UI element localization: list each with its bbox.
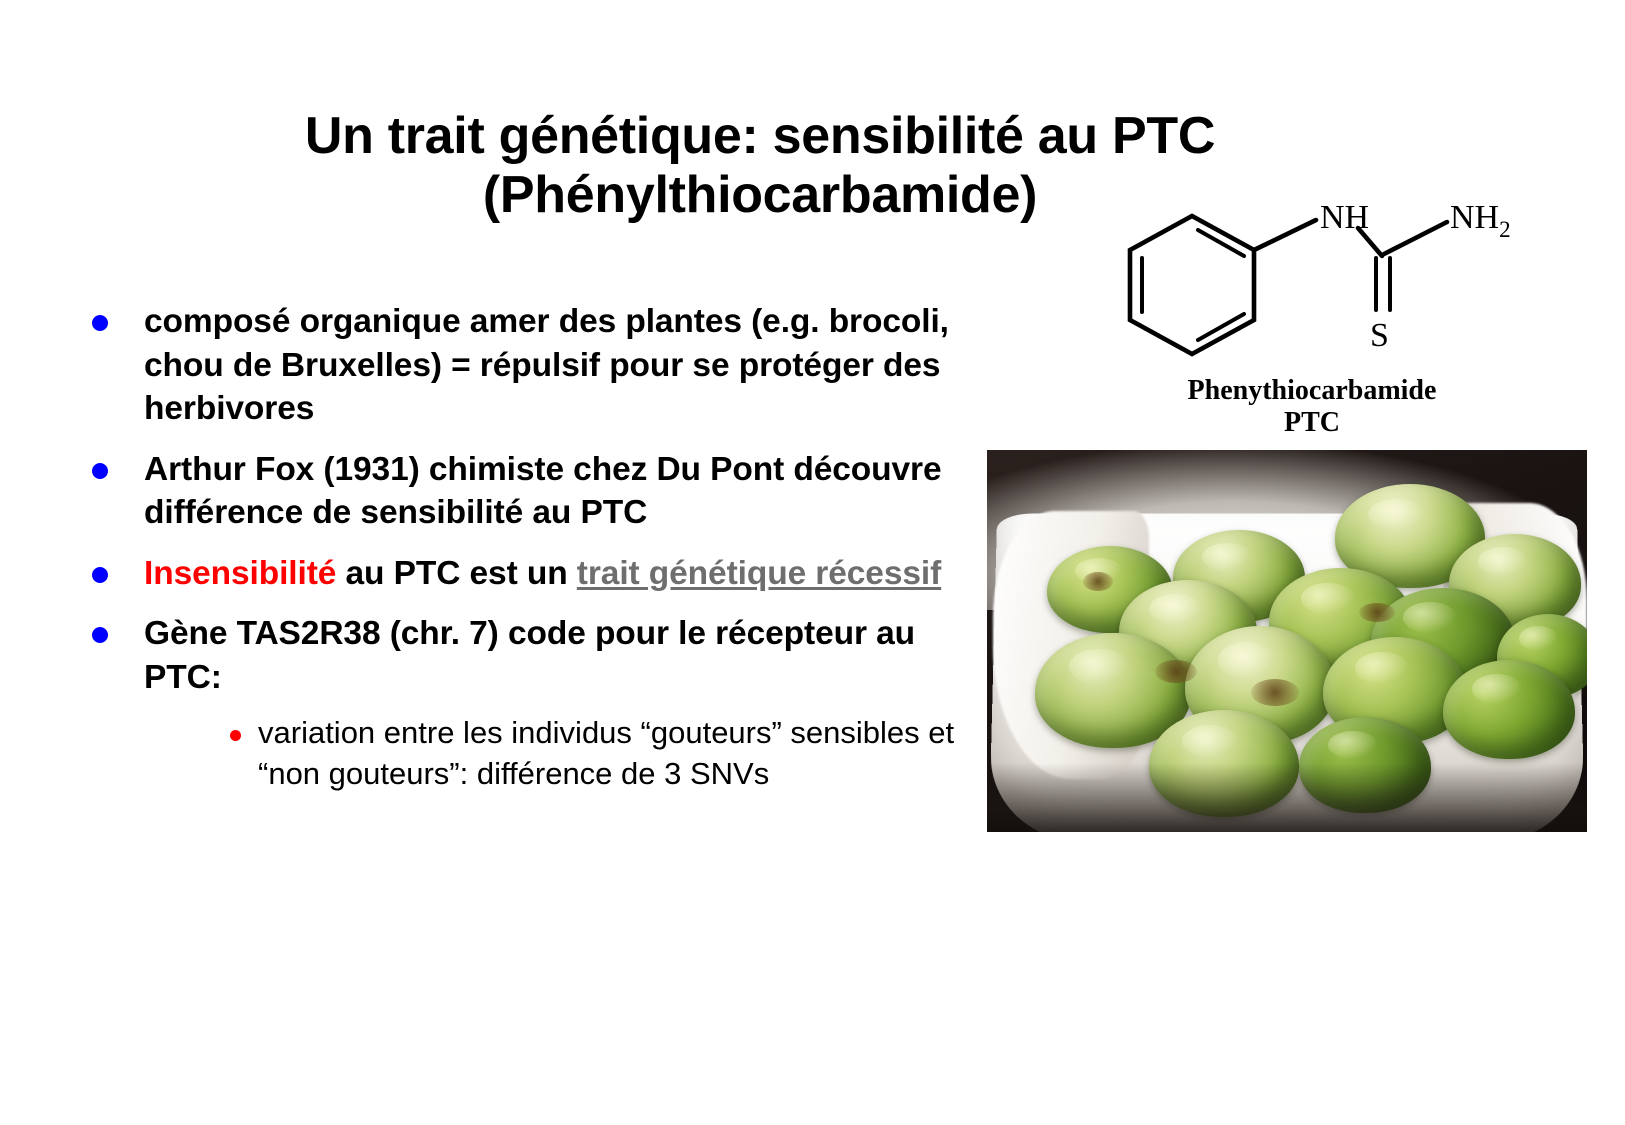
sub-bullet-text: variation entre les individus “gouteurs”… [258, 713, 972, 795]
sub-bullet-list: variation entre les individus “gouteurs”… [144, 713, 972, 795]
bullet-segment: Gène TAS2R38 (chr. 7) code pour le récep… [144, 615, 915, 696]
bullet-dot-icon [92, 627, 108, 643]
sprout [1443, 660, 1575, 759]
list-item: Arthur Fox (1931) chimiste chez Du Pont … [72, 448, 972, 535]
bullet-list: composé organique amer des plantes (e.g.… [72, 300, 972, 795]
char-spot [1155, 660, 1197, 683]
label-nh2: NH2 [1450, 199, 1511, 242]
caption-line-2: PTC [1062, 407, 1562, 439]
bullet-dot-icon [92, 463, 108, 479]
brussels-sprouts-photo [987, 450, 1587, 832]
label-nh: NH [1320, 199, 1369, 236]
sub-bullet-dot-icon [230, 730, 241, 741]
page-title-line-1: Un trait génétique: sensibilité au PTC [180, 107, 1340, 166]
char-spot [1359, 603, 1395, 622]
photo-foreground-shadow [987, 763, 1587, 832]
caption-line-1: Phenythiocarbamide [1062, 375, 1562, 407]
bullet-text: Arthur Fox (1931) chimiste chez Du Pont … [144, 448, 972, 535]
sub-list-item: variation entre les individus “gouteurs”… [206, 713, 972, 795]
char-spot [1251, 679, 1299, 706]
list-item: composé organique amer des plantes (e.g.… [72, 300, 972, 431]
bullet-text: Insensibilité au PTC est un trait généti… [144, 552, 972, 596]
bullet-segment: composé organique amer des plantes (e.g.… [144, 303, 949, 427]
ptc-molecule-icon: NH NH2 S [1062, 188, 1562, 373]
label-s: S [1370, 317, 1389, 354]
underlined-term-trait-genetique-recessif: trait génétique récessif [577, 555, 941, 592]
chemical-structure-caption: Phenythiocarbamide PTC [1062, 375, 1562, 440]
bullet-segment: Arthur Fox (1931) chimiste chez Du Pont … [144, 451, 942, 532]
photo-scene [987, 450, 1587, 832]
bullet-dot-icon [92, 567, 108, 583]
bullet-dot-icon [92, 315, 108, 331]
bullet-segment: au PTC est un [336, 555, 576, 592]
bullet-text: Gène TAS2R38 (chr. 7) code pour le récep… [144, 612, 972, 699]
list-item: Insensibilité au PTC est un trait généti… [72, 552, 972, 596]
chemical-structure-figure: NH NH2 S Phenythiocarbamide PTC [1062, 188, 1562, 438]
highlight-insensibilite: Insensibilité [144, 555, 336, 592]
bullet-text: composé organique amer des plantes (e.g.… [144, 300, 972, 431]
list-item: Gène TAS2R38 (chr. 7) code pour le récep… [72, 612, 972, 795]
